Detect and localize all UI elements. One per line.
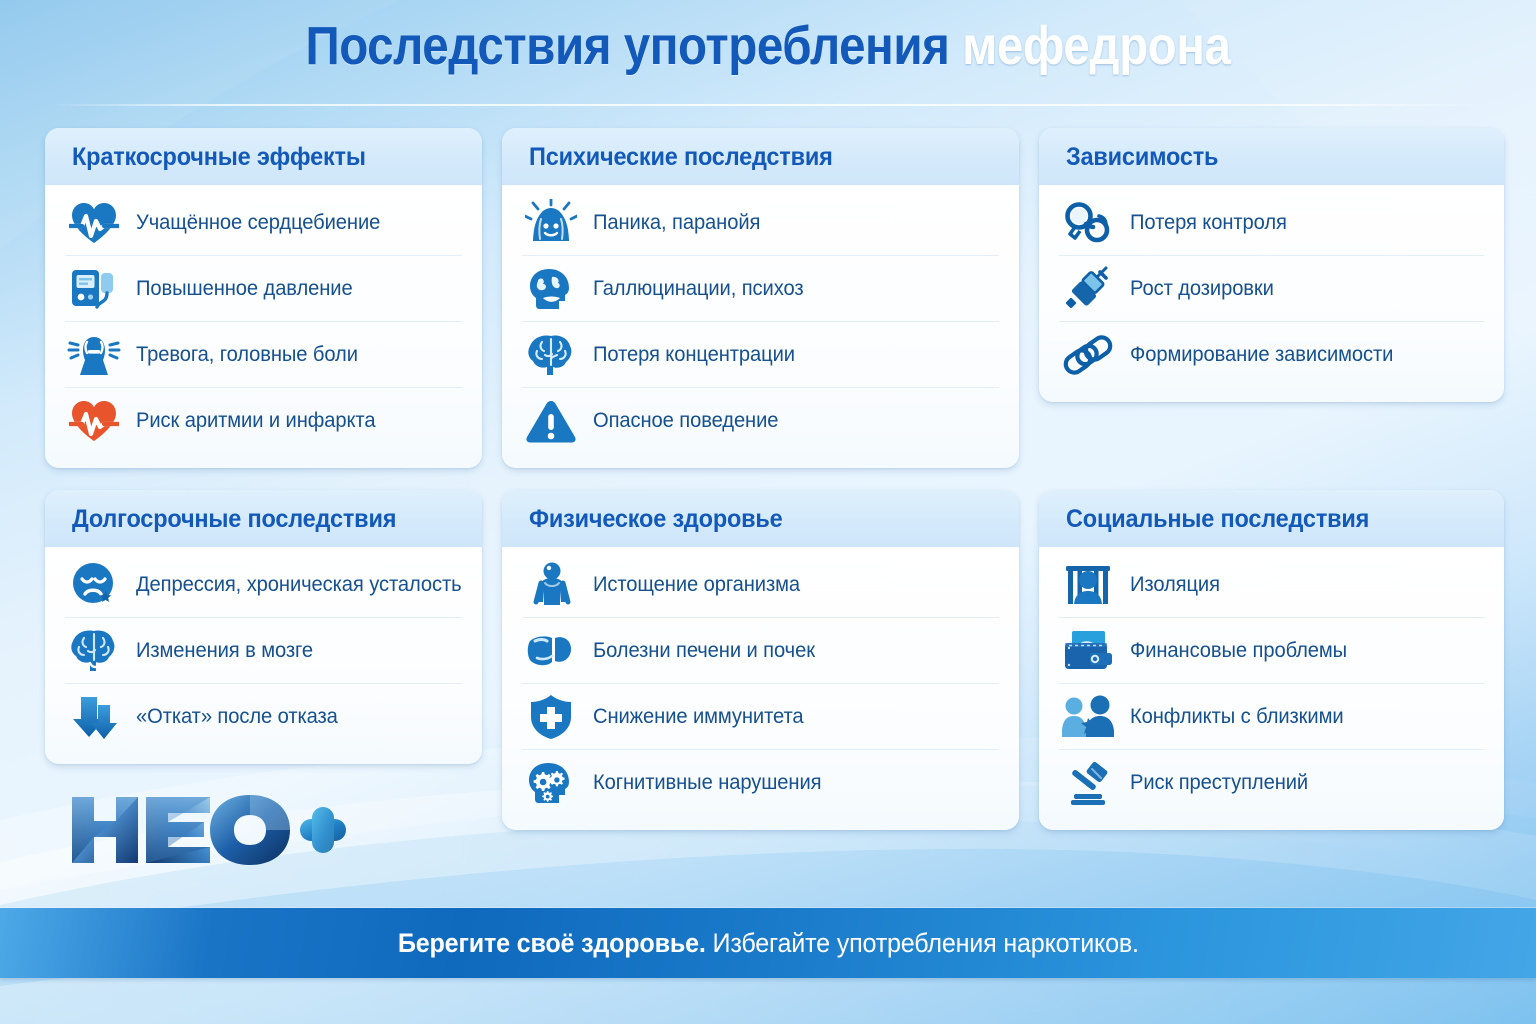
list-item[interactable]: Учащённое сердцебиение (65, 190, 462, 256)
card-header: Социальные последствия (1039, 490, 1504, 548)
exhausted-person-icon (522, 556, 580, 614)
list-item-label: Когнитивные нарушения (593, 771, 821, 795)
card-header: Краткосрочные эффекты (45, 128, 482, 186)
footer-bold-text: Берегите своё здоровье. (398, 928, 706, 958)
list-item-label: Формирование зависимости (1130, 343, 1393, 367)
list-item[interactable]: Потеря контроля (1059, 190, 1484, 256)
card-title: Физическое здоровье (529, 505, 967, 534)
heart-attack-icon (65, 392, 123, 450)
list-item[interactable]: Риск аритмии и инфаркта (65, 388, 462, 454)
brain-icon (522, 326, 580, 384)
list-item-label: Снижение иммунитета (593, 705, 803, 729)
list-item-label: Опасное поведение (593, 409, 778, 433)
card-body: Потеря контроля Рост дозировки (1039, 186, 1504, 402)
list-item[interactable]: Болезни печени и почек (522, 618, 999, 684)
list-item-label: Риск преступлений (1130, 771, 1308, 795)
card-header: Долгосрочные последствия (45, 490, 482, 548)
title-accent: мефедрона (962, 16, 1230, 76)
list-item[interactable]: Паника, паранойя (522, 190, 999, 256)
footer-banner: Берегите своё здоровье. Избегайте употре… (0, 908, 1536, 978)
brand-logo: НЕО+ (68, 791, 348, 869)
cards-grid: Краткосрочные эффекты Учащённое сердцеби… (45, 128, 1493, 830)
card-header: Психические последствия (502, 128, 1019, 186)
list-item-label: Конфликты с близкими (1130, 705, 1344, 729)
list-item-label: Галлюцинации, психоз (593, 277, 803, 301)
card-body: Учащённое сердцебиение (45, 186, 482, 468)
handcuffs-icon (1059, 194, 1117, 252)
title-divider (48, 104, 1488, 106)
list-item[interactable]: Тревога, головные боли (65, 322, 462, 388)
hallucination-head-icon (522, 260, 580, 318)
list-item[interactable]: Формирование зависимости (1059, 322, 1484, 388)
card-title: Зависимость (1066, 143, 1455, 172)
down-arrows-icon (65, 688, 123, 746)
conflict-people-icon (1059, 688, 1117, 746)
heart-pulse-icon (65, 194, 123, 252)
card-title: Долгосрочные последствия (72, 505, 435, 534)
card-title: Краткосрочные эффекты (72, 143, 435, 172)
shield-cross-icon (522, 688, 580, 746)
card-short-term-effects: Краткосрочные эффекты Учащённое сердцеби… (45, 128, 482, 468)
list-item-label: «Откат» после отказа (136, 705, 338, 729)
card-social-consequences: Социальные последствия (1039, 490, 1504, 830)
list-item[interactable]: Снижение иммунитета (522, 684, 999, 750)
head-gears-icon (522, 754, 580, 812)
list-item-label: Учащённое сердцебиение (136, 211, 380, 235)
list-item-label: Финансовые проблемы (1130, 639, 1347, 663)
page-title: Последствия употребления мефедрона (0, 18, 1536, 75)
list-item-label: Тревога, головные боли (136, 343, 358, 367)
list-item[interactable]: Повышенное давление (65, 256, 462, 322)
list-item[interactable]: Изоляция (1059, 552, 1484, 618)
chain-link-icon (1059, 326, 1117, 384)
syringe-icon (1059, 260, 1117, 318)
list-item[interactable]: Риск преступлений (1059, 750, 1484, 816)
card-dependence: Зависимость Потеря контроля (1039, 128, 1504, 402)
list-item[interactable]: Истощение организма (522, 552, 999, 618)
card-physical-health: Физическое здоровье Истощени (502, 490, 1019, 830)
list-item[interactable]: Финансовые проблемы (1059, 618, 1484, 684)
list-item[interactable]: Изменения в мозге (65, 618, 462, 684)
list-item[interactable]: Потеря концентрации (522, 322, 999, 388)
list-item-label: Изменения в мозге (136, 639, 313, 663)
list-item[interactable]: Когнитивные нарушения (522, 750, 999, 816)
brain-changes-icon (65, 622, 123, 680)
card-body: Истощение организма Болезни печени и поч… (502, 548, 1019, 830)
card-header: Физическое здоровье (502, 490, 1019, 548)
list-item-label: Болезни печени и почек (593, 639, 815, 663)
card-long-term-consequences: Долгосрочные последствия Депрессия, хрон… (45, 490, 482, 764)
card-mental-consequences: Психические последствия (502, 128, 1019, 468)
gavel-icon (1059, 754, 1117, 812)
list-item-label: Рост дозировки (1130, 277, 1274, 301)
list-item[interactable]: Депрессия, хроническая усталость (65, 552, 462, 618)
liver-kidney-icon (522, 622, 580, 680)
list-item-label: Повышенное давление (136, 277, 353, 301)
sad-face-icon (65, 556, 123, 614)
list-item-label: Истощение организма (593, 573, 800, 597)
headache-person-icon (65, 326, 123, 384)
card-title: Психические последствия (529, 143, 967, 172)
list-item-label: Паника, паранойя (593, 211, 760, 235)
infographic-poster: Последствия употребления мефедрона Кратк… (0, 0, 1536, 1024)
blood-pressure-monitor-icon (65, 260, 123, 318)
list-item-label: Риск аритмии и инфаркта (136, 409, 375, 433)
list-item[interactable]: Рост дозировки (1059, 256, 1484, 322)
title-primary: Последствия употребления (305, 16, 949, 76)
wallet-icon (1059, 622, 1117, 680)
list-item-label: Депрессия, хроническая усталость (136, 573, 462, 597)
card-title: Социальные последствия (1066, 505, 1455, 534)
card-header: Зависимость (1039, 128, 1504, 186)
card-body: Изоляция (1039, 548, 1504, 830)
panic-face-icon (522, 194, 580, 252)
warning-triangle-icon (522, 392, 580, 450)
card-body: Паника, паранойя Галлюцинации, психоз (502, 186, 1019, 468)
prison-isolation-icon (1059, 556, 1117, 614)
card-body: Депрессия, хроническая усталость Изменен… (45, 548, 482, 764)
list-item[interactable]: Конфликты с близкими (1059, 684, 1484, 750)
list-item[interactable]: «Откат» после отказа (65, 684, 462, 750)
footer-normal-text: Избегайте употребления наркотиков. (712, 928, 1138, 958)
list-item-label: Потеря контроля (1130, 211, 1287, 235)
list-item[interactable]: Галлюцинации, психоз (522, 256, 999, 322)
list-item[interactable]: Опасное поведение (522, 388, 999, 454)
list-item-label: Потеря концентрации (593, 343, 795, 367)
list-item-label: Изоляция (1130, 573, 1220, 597)
